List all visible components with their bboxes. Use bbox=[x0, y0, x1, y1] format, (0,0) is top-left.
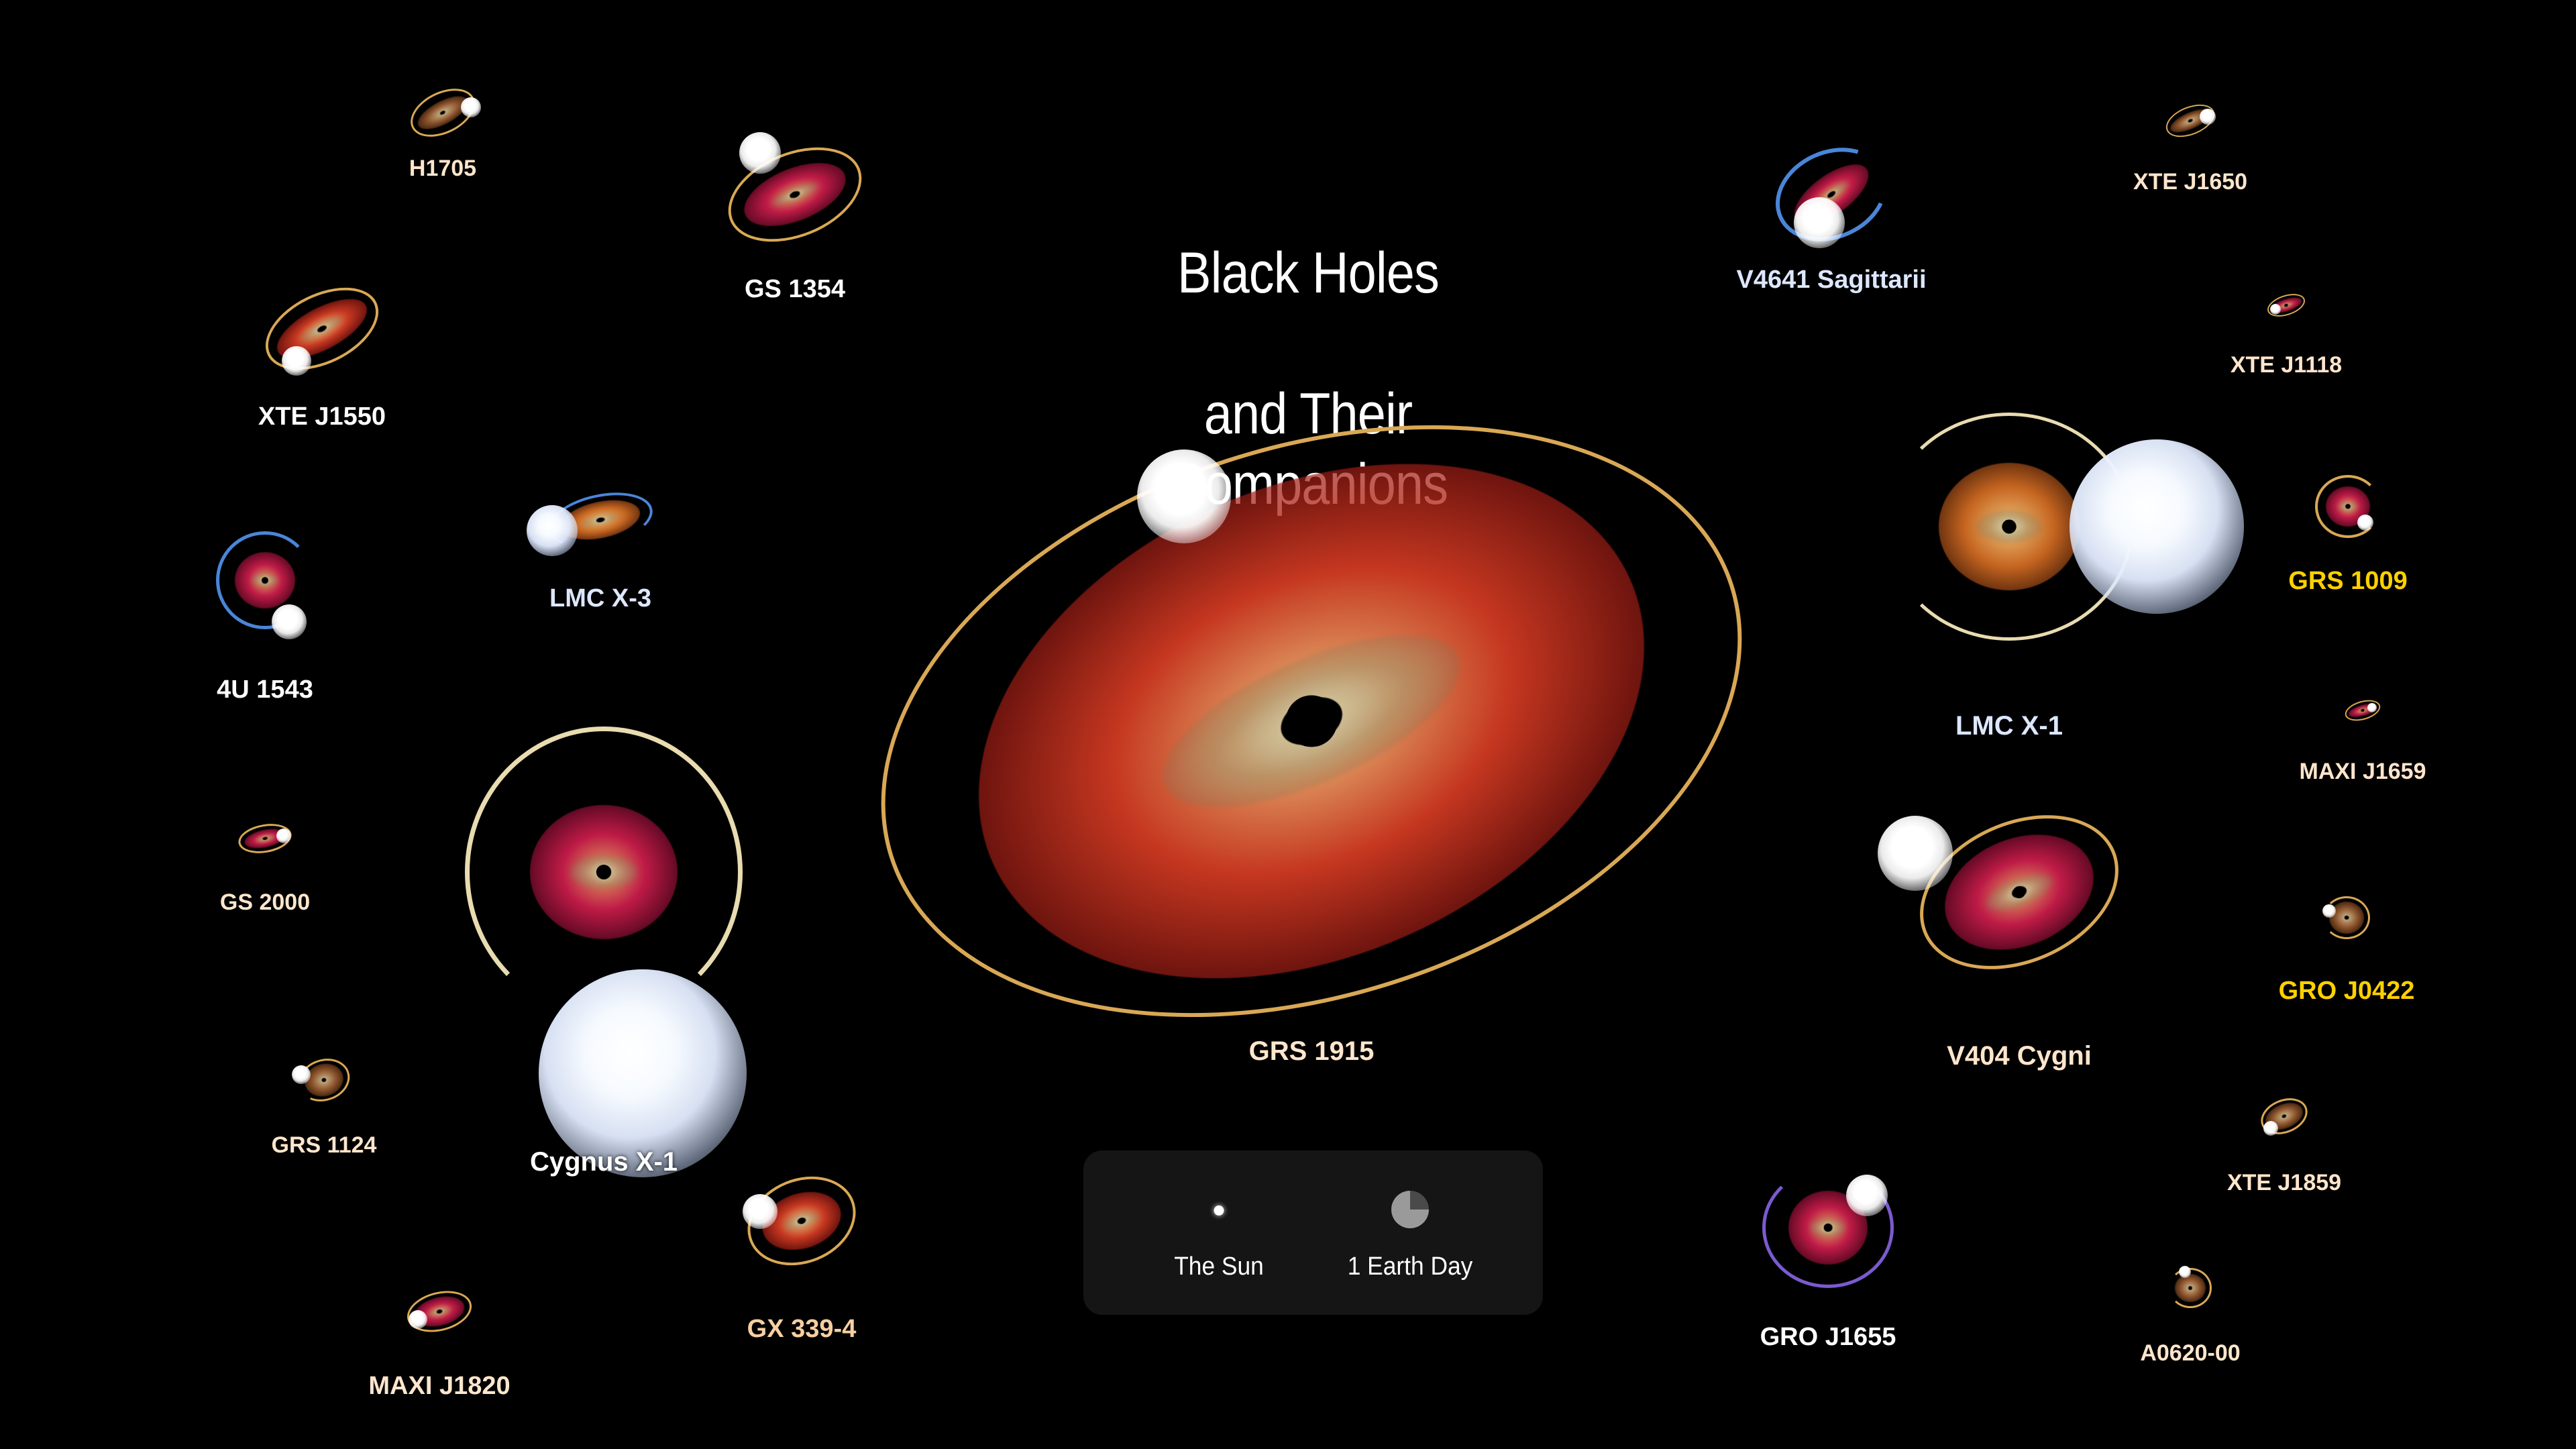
companion-star-icon bbox=[1137, 449, 1231, 543]
black-hole-icon bbox=[2345, 916, 2349, 920]
system-label-lmc-x-1: LMC X-1 bbox=[1955, 711, 2063, 741]
companion-star-icon bbox=[2263, 1121, 2278, 1136]
companion-star-icon bbox=[276, 828, 291, 843]
system-label-a0620-00: A0620-00 bbox=[2140, 1340, 2240, 1366]
black-hole-icon bbox=[438, 1310, 441, 1313]
system-label-maxi-j1820: MAXI J1820 bbox=[368, 1372, 510, 1401]
black-hole-icon bbox=[799, 1218, 805, 1224]
companion-star-icon bbox=[461, 97, 481, 117]
system-label-cygnus-x-1: Cygnus X-1 bbox=[530, 1147, 678, 1177]
companion-star-icon bbox=[2357, 515, 2373, 531]
system-label-gs1354: GS 1354 bbox=[745, 275, 845, 304]
companion-star-icon bbox=[272, 604, 307, 639]
scale-legend-panel: The Sun 1 Earth Day bbox=[1083, 1150, 1543, 1315]
companion-star-icon bbox=[1878, 816, 1953, 891]
legend-item-earth-day: 1 Earth Day bbox=[1326, 1150, 1494, 1315]
legend-label-earth-day: 1 Earth Day bbox=[1332, 1252, 1489, 1281]
black-hole-icon bbox=[320, 327, 325, 331]
starfield-canvas: Black Holes and Their Companions H1705GS… bbox=[0, 0, 2576, 1449]
system-label-grs-1915: GRS 1915 bbox=[1249, 1036, 1375, 1067]
system-label-maxi-j1659: MAXI J1659 bbox=[2300, 759, 2426, 785]
system-label-gro-j0422: GRO J0422 bbox=[2279, 977, 2415, 1006]
black-hole-icon bbox=[1286, 696, 1338, 747]
black-hole-icon bbox=[2361, 709, 2364, 712]
black-hole-icon bbox=[2346, 504, 2351, 509]
black-hole-icon bbox=[2013, 886, 2025, 898]
system-label-xte-j1859: XTE J1859 bbox=[2227, 1170, 2341, 1196]
black-hole-icon bbox=[1824, 1224, 1832, 1232]
companion-star-icon bbox=[2270, 304, 2281, 315]
system-label-gro-j1655: GRO J1655 bbox=[1760, 1323, 1896, 1352]
system-label-gs-2000: GS 2000 bbox=[220, 890, 310, 916]
black-hole-icon bbox=[2283, 1115, 2286, 1118]
companion-star-icon bbox=[743, 1194, 777, 1229]
companion-star-icon bbox=[527, 505, 578, 556]
companion-star-icon bbox=[739, 132, 781, 174]
system-label-xte-j1550: XTE J1550 bbox=[258, 402, 386, 431]
companion-star-icon bbox=[2179, 1266, 2191, 1278]
legend-item-sun: The Sun bbox=[1145, 1150, 1293, 1315]
companion-star-icon bbox=[539, 969, 747, 1177]
companion-star-icon bbox=[2322, 904, 2336, 918]
quarter-pie-clock-icon bbox=[1391, 1191, 1429, 1228]
companion-star-icon bbox=[409, 1310, 427, 1329]
companion-star-icon bbox=[2367, 703, 2377, 712]
system-label-gx-339-4: GX 339-4 bbox=[747, 1315, 857, 1344]
system-label-xte-j1650: XTE J1650 bbox=[2133, 169, 2247, 195]
black-hole-icon bbox=[2189, 1287, 2192, 1290]
black-hole-icon bbox=[264, 837, 266, 840]
companion-star-icon bbox=[292, 1065, 311, 1084]
black-hole-icon bbox=[262, 578, 268, 584]
black-hole-icon bbox=[596, 865, 611, 879]
page-title-line-1: Black Holes bbox=[1066, 238, 1550, 309]
black-hole-icon bbox=[323, 1079, 326, 1082]
black-hole-icon bbox=[1829, 193, 1833, 197]
black-hole-icon bbox=[2002, 520, 2017, 534]
system-label-h1705: H1705 bbox=[409, 156, 476, 182]
companion-star-icon bbox=[282, 346, 311, 376]
black-hole-icon bbox=[2189, 119, 2192, 122]
system-label-4u-1543: 4U 1543 bbox=[217, 676, 313, 704]
companion-star-icon bbox=[1846, 1175, 1888, 1216]
system-label-lmc-x-3: LMC X-3 bbox=[549, 584, 651, 613]
system-label-grs-1124: GRS 1124 bbox=[272, 1132, 377, 1159]
system-label-grs-1009: GRS 1009 bbox=[2288, 567, 2407, 596]
companion-star-icon bbox=[2200, 109, 2216, 125]
black-hole-icon bbox=[792, 192, 798, 198]
white-dot-icon bbox=[1214, 1205, 1224, 1216]
system-label-v404-cygni: V404 Cygni bbox=[1947, 1041, 2092, 1071]
companion-star-icon bbox=[2070, 439, 2244, 614]
system-label-xte-j1118: XTE J1118 bbox=[2231, 352, 2342, 378]
companion-star-icon bbox=[1794, 197, 1845, 248]
black-hole-icon bbox=[441, 111, 444, 114]
black-hole-icon bbox=[598, 518, 602, 522]
system-label-v4641-sgr: V4641 Sagittarii bbox=[1736, 266, 1926, 294]
legend-label-sun: The Sun bbox=[1150, 1252, 1288, 1281]
black-hole-icon bbox=[2285, 304, 2288, 307]
